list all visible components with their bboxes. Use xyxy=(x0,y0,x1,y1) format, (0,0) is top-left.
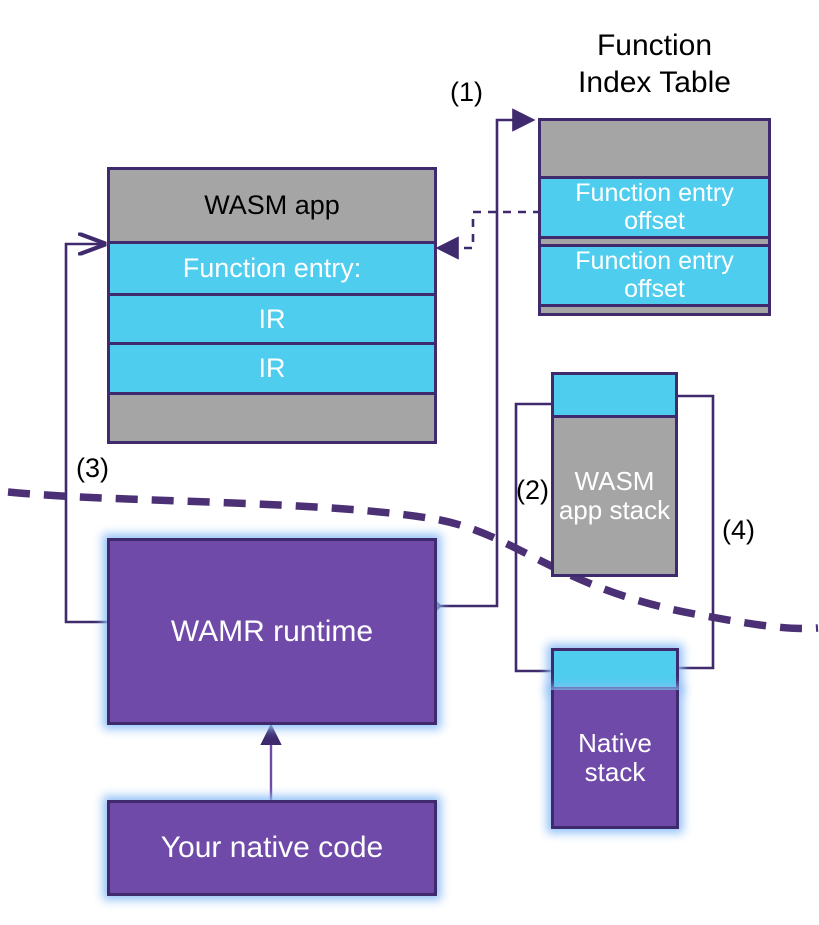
function-index-table-entry-2: Function entry offset xyxy=(538,247,771,307)
wamr-runtime-box[interactable]: WAMR runtime xyxy=(107,538,437,725)
native-stack-body: Native stack xyxy=(551,690,679,829)
function-index-table-heading: Function Index Table xyxy=(538,28,771,101)
arrow-step-3 xyxy=(66,244,107,622)
step-label-3: (3) xyxy=(76,455,109,482)
step-label-4: (4) xyxy=(722,517,755,544)
function-index-table-entry-2-label: Function entry offset xyxy=(569,248,739,303)
wasm-app-stack-top-band xyxy=(551,372,678,418)
arrow-step-1 xyxy=(430,120,533,606)
wasm-app-stack-label: WASM app stack xyxy=(559,467,670,525)
your-native-code-box[interactable]: Your native code xyxy=(107,800,437,896)
function-index-table-header-band xyxy=(538,118,771,179)
function-index-table-divider-2 xyxy=(538,307,771,316)
step-label-1: (1) xyxy=(450,79,483,106)
wasm-app-ir-row-2: IR xyxy=(107,345,437,395)
native-stack-label: Native stack xyxy=(578,729,652,787)
wasm-app-ir-row-1: IR xyxy=(107,296,437,345)
step-label-2: (2) xyxy=(516,477,549,504)
wasm-app-empty-row xyxy=(107,395,437,444)
wasm-app-stack-body: WASM app stack xyxy=(551,418,678,577)
function-index-table-entry-1-label: Function entry offset xyxy=(569,180,739,235)
wasm-app-function-entry-row: Function entry: xyxy=(107,244,437,296)
native-stack-top-band xyxy=(551,648,679,690)
function-index-table-divider-1 xyxy=(538,239,771,247)
wasm-app-title-row: WASM app xyxy=(107,167,437,244)
diagram-canvas: Function Index Table (1) (2) (3) (4) WAS… xyxy=(0,0,819,925)
function-index-table-entry-1: Function entry offset xyxy=(538,179,771,239)
